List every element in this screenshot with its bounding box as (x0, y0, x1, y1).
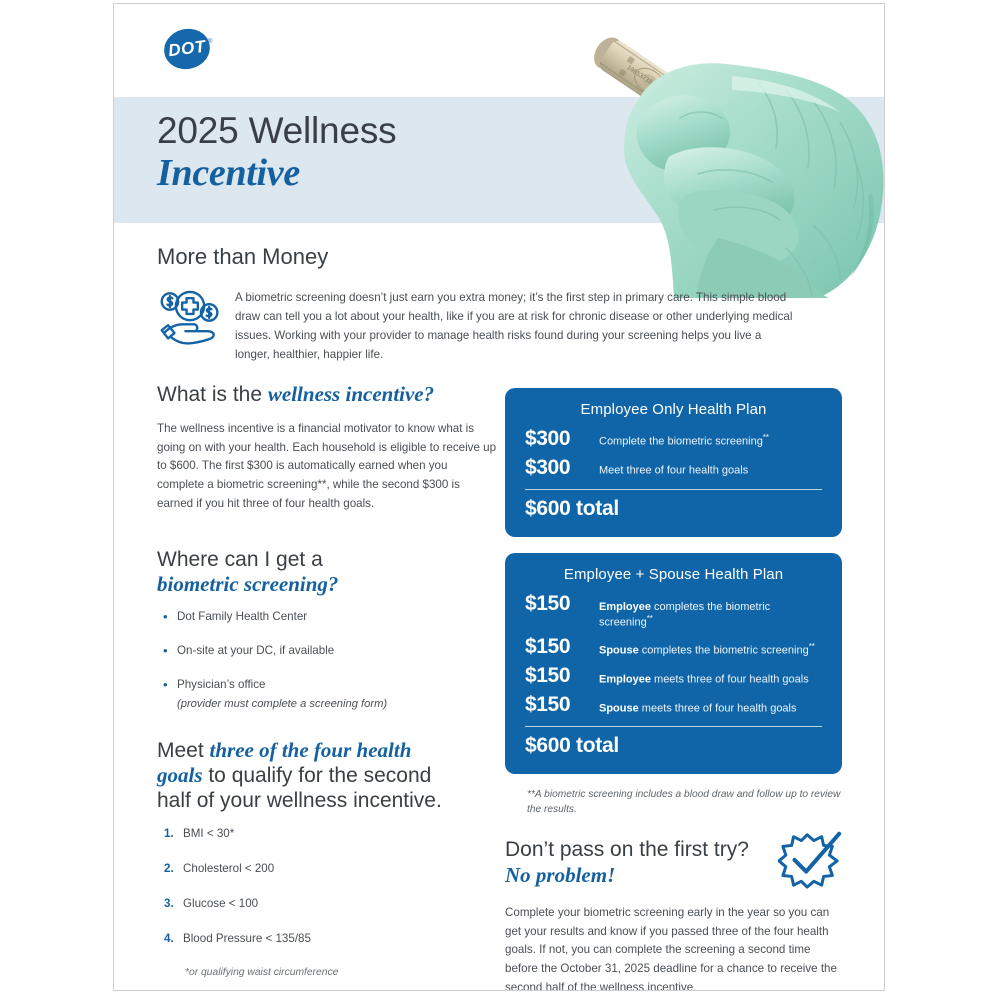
more-than-money-heading: More than Money (157, 244, 797, 270)
goals-heading-part1: Meet (157, 739, 210, 762)
biometric-screening-footnote: **A biometric screening includes a blood… (527, 788, 842, 818)
plan-desc-text: meets three of four health goals (651, 673, 809, 685)
plan-desc-bold: Employee (599, 601, 651, 613)
plan-desc-sup: ** (809, 642, 815, 651)
plan-row: $300 Meet three of four health goals (525, 456, 822, 480)
svg-text:10653738: 10653738 (625, 64, 653, 86)
plan-desc-text: completes the biometric screening (639, 644, 809, 656)
dot-logo: DOT ® (157, 25, 217, 73)
goal-label: Glucose < 100 (183, 897, 258, 910)
goals-footnote: *or qualifying waist circumference (185, 967, 497, 978)
where-heading-italic: biometric screening? (157, 572, 497, 597)
plan-card-employee-only: Employee Only Health Plan $300 Complete … (505, 388, 842, 537)
title-line-2: Incentive (157, 153, 577, 195)
plan-amount: $300 (525, 456, 599, 480)
plan-amount: $150 (525, 664, 599, 688)
hand-holding-money-cross-icon (157, 286, 235, 365)
plan-total: $600 total (525, 734, 822, 758)
where-heading: Where can I get a biometric screening? (157, 548, 497, 598)
plan-desc-text: meets three of four health goals (639, 702, 797, 714)
title-line-1: 2025 Wellness (157, 111, 577, 151)
plan-amount: $150 (525, 693, 599, 717)
list-item: Dot Family Health Center (157, 609, 497, 626)
section-retry: Don’t pass on the first try? No problem!… (505, 838, 842, 991)
where-heading-plain: Where can I get a (157, 548, 497, 573)
goals-list: 1. BMI < 30* 2. Cholesterol < 200 3. Glu… (157, 827, 497, 945)
plan-divider (525, 489, 822, 490)
where-list: Dot Family Health Center On-site at your… (157, 609, 497, 712)
plan-description: Spouse completes the biometric screening… (599, 642, 815, 658)
where-item-label: On-site at your DC, if available (177, 644, 334, 657)
where-item-sublabel: (provider must complete a screening form… (177, 696, 497, 712)
goal-number: 4. (164, 932, 174, 945)
what-is-body: The wellness incentive is a financial mo… (157, 420, 497, 514)
plan-divider (525, 726, 822, 727)
goals-heading-italic1: three of the four health (210, 738, 412, 762)
plan-desc-text: Complete the biometric screening (599, 436, 763, 448)
goal-number: 1. (164, 827, 174, 840)
starburst-checkmark-icon (778, 828, 844, 890)
list-item: 4. Blood Pressure < 135/85 (157, 932, 497, 945)
goals-heading-part3: half of your wellness incentive. (157, 789, 442, 812)
plan-desc-bold: Employee (599, 673, 651, 685)
list-item: On-site at your DC, if available (157, 643, 497, 660)
page-root: DOT ® (0, 0, 1000, 1000)
where-item-label: Physician’s office (177, 678, 266, 691)
plan-description: Employee completes the biometric screeni… (599, 600, 822, 630)
what-is-heading-plain: What is the (157, 383, 268, 406)
list-item: 2. Cholesterol < 200 (157, 862, 497, 875)
goals-heading-italic2: goals (157, 763, 203, 787)
plan-title: Employee + Spouse Health Plan (525, 566, 822, 583)
goal-label: Cholesterol < 200 (183, 862, 274, 875)
plan-desc-bold: Spouse (599, 702, 639, 714)
logo-registered-mark: ® (208, 39, 212, 45)
plan-description: Meet three of four health goals (599, 462, 748, 478)
logo-wordmark: DOT (154, 22, 219, 77)
plan-description: Employee meets three of four health goal… (599, 671, 809, 687)
left-column: What is the wellness incentive? The well… (157, 382, 497, 978)
list-item: 3. Glucose < 100 (157, 897, 497, 910)
list-item: 1. BMI < 30* (157, 827, 497, 840)
goal-label: Blood Pressure < 135/85 (183, 932, 311, 945)
more-than-money-body: A biometric screening doesn’t just earn … (235, 286, 797, 365)
card-spacer (505, 537, 842, 553)
hero-title: 2025 Wellness Incentive (157, 111, 577, 195)
plan-desc-sup: ** (647, 614, 653, 623)
plan-card-employee-spouse: Employee + Spouse Health Plan $150 Emplo… (505, 553, 842, 774)
plan-row: $150 Spouse completes the biometric scre… (525, 635, 822, 659)
what-is-heading: What is the wellness incentive? (157, 382, 497, 408)
plan-description: Complete the biometric screening** (599, 433, 769, 449)
plan-total: $600 total (525, 497, 822, 521)
goals-heading: Meet three of the four health goals to q… (157, 738, 497, 814)
plan-row: $150 Employee completes the biometric sc… (525, 592, 822, 630)
plan-row: $150 Spouse meets three of four health g… (525, 693, 822, 717)
plan-description: Spouse meets three of four health goals (599, 700, 797, 716)
retry-body: Complete your biometric screening early … (505, 904, 842, 991)
plan-desc-sup: ** (763, 433, 769, 442)
list-item: Physician’s office (provider must comple… (157, 677, 497, 712)
plan-desc-bold: Spouse (599, 644, 639, 656)
goals-heading-part2: to qualify for the second (203, 764, 432, 787)
where-item-label: Dot Family Health Center (177, 610, 307, 623)
plan-row: $150 Employee meets three of four health… (525, 664, 822, 688)
plan-amount: $150 (525, 592, 599, 616)
plan-desc-text: Meet three of four health goals (599, 465, 748, 477)
document-sheet: DOT ® (113, 3, 885, 991)
goal-label: BMI < 30* (183, 827, 234, 840)
right-column: Employee Only Health Plan $300 Complete … (505, 388, 842, 991)
plan-amount: $300 (525, 427, 599, 451)
goal-number: 3. (164, 897, 174, 910)
goal-number: 2. (164, 862, 174, 875)
section-more-than-money: More than Money (157, 244, 797, 365)
plan-amount: $150 (525, 635, 599, 659)
plan-row: $300 Complete the biometric screening** (525, 427, 822, 451)
what-is-heading-italic: wellness incentive? (268, 382, 434, 406)
plan-title: Employee Only Health Plan (525, 401, 822, 418)
